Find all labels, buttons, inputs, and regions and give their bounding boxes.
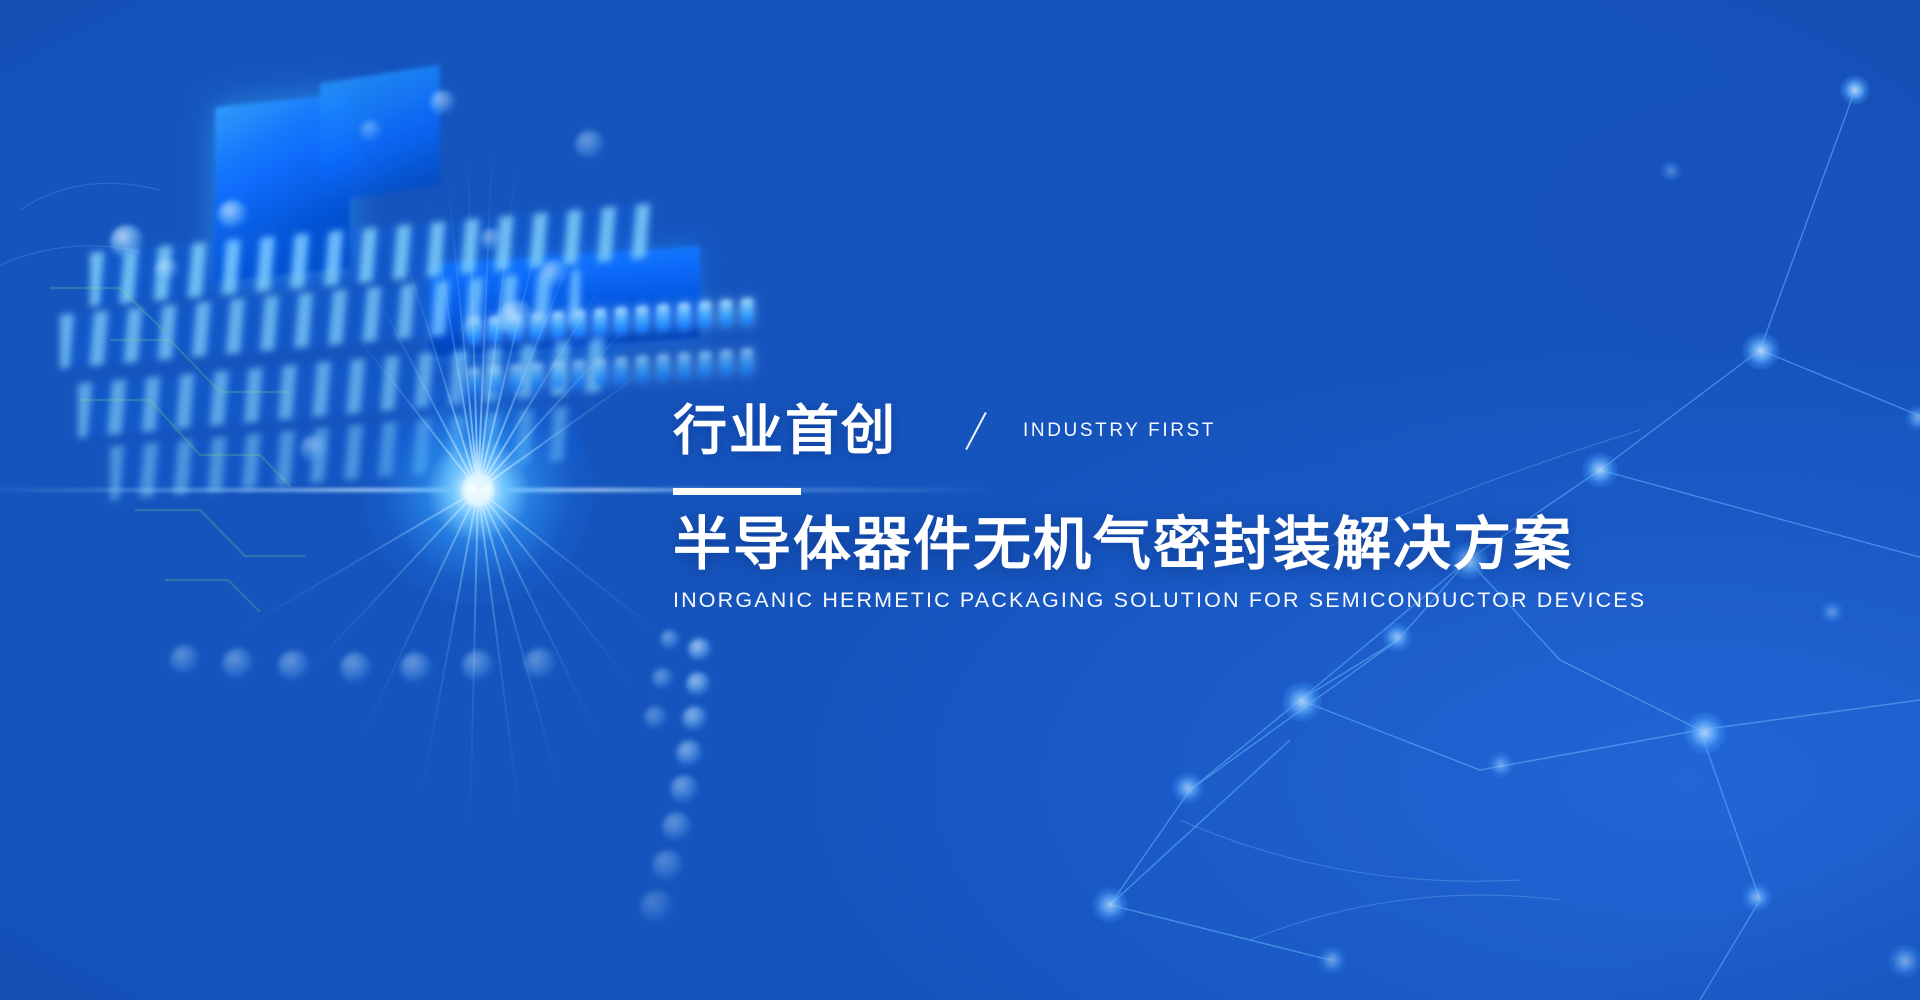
eyebrow-chinese: 行业首创 — [673, 404, 897, 458]
eyebrow-row: 行业首创 INDUSTRY FIRST — [673, 398, 1433, 464]
horizontal-rule-icon — [673, 488, 801, 495]
banner-content: 行业首创 INDUSTRY FIRST 半导体器件无机气密封装解决方案 INOR… — [673, 398, 1433, 613]
diagonal-slash-divider-icon — [965, 412, 986, 450]
hero-banner: 行业首创 INDUSTRY FIRST 半导体器件无机气密封装解决方案 INOR… — [0, 0, 1920, 1000]
page-subtitle: INORGANIC HERMETIC PACKAGING SOLUTION FO… — [673, 588, 1433, 613]
page-title: 半导体器件无机气密封装解决方案 — [673, 515, 1433, 576]
eyebrow-english: INDUSTRY FIRST — [1023, 420, 1216, 442]
